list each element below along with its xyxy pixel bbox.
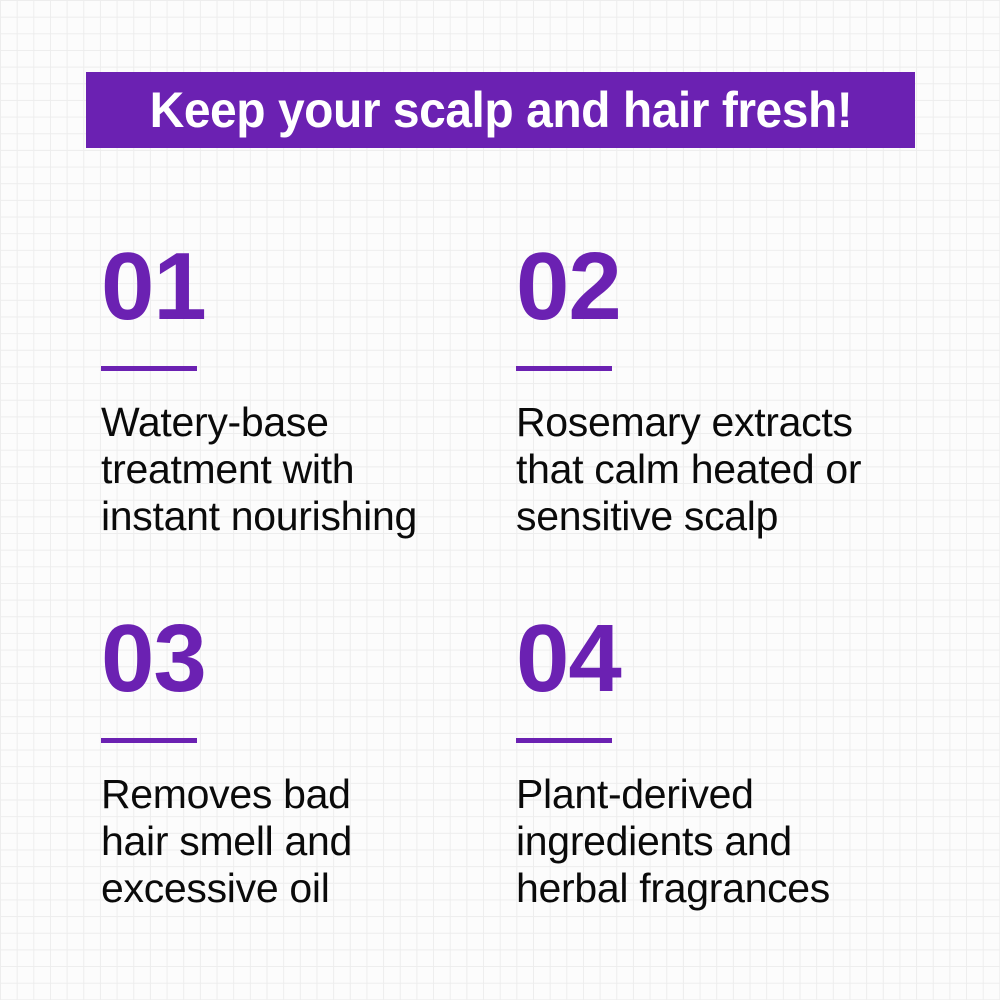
feature-number-02: 02 <box>516 246 931 340</box>
feature-grid: 01 Watery-base treatment with instant no… <box>101 246 931 912</box>
feature-divider-02 <box>516 366 612 371</box>
header-banner: Keep your scalp and hair fresh! <box>86 72 915 148</box>
feature-item-02: 02 Rosemary extracts that calm heated or… <box>516 246 931 618</box>
feature-item-01: 01 Watery-base treatment with instant no… <box>101 246 516 618</box>
feature-divider-04 <box>516 738 612 743</box>
feature-item-03: 03 Removes bad hair smell and excessive … <box>101 618 516 912</box>
feature-text-03: Removes bad hair smell and excessive oil <box>101 771 516 912</box>
feature-row-bottom: 03 Removes bad hair smell and excessive … <box>101 618 931 912</box>
feature-number-01: 01 <box>101 246 516 340</box>
feature-divider-03 <box>101 738 197 743</box>
feature-item-04: 04 Plant-derived ingredients and herbal … <box>516 618 931 912</box>
feature-text-04: Plant-derived ingredients and herbal fra… <box>516 771 931 912</box>
feature-text-01: Watery-base treatment with instant nouri… <box>101 399 516 540</box>
feature-text-02: Rosemary extracts that calm heated or se… <box>516 399 931 540</box>
feature-divider-01 <box>101 366 197 371</box>
infographic-page: Keep your scalp and hair fresh! 01 Water… <box>0 0 1000 1000</box>
feature-number-03: 03 <box>101 618 516 712</box>
feature-row-top: 01 Watery-base treatment with instant no… <box>101 246 931 618</box>
page-title: Keep your scalp and hair fresh! <box>149 85 852 135</box>
feature-number-04: 04 <box>516 618 931 712</box>
